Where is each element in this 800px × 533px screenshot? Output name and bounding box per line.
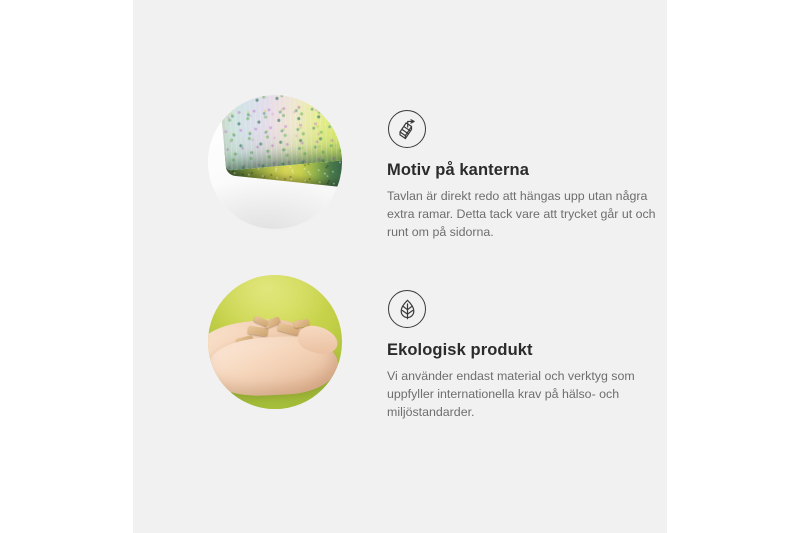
canvas-wrapped-edge-icon (388, 110, 426, 148)
feature-text-column: Ekologisk produkt Vi använder endast mat… (387, 290, 677, 422)
feature-description: Vi använder endast material och verktyg … (387, 367, 667, 422)
feature-text-column: Motiv på kanterna Tavlan är direkt redo … (387, 110, 677, 242)
feature-title: Motiv på kanterna (387, 161, 677, 181)
hands-holding-wood-chips-photo (208, 275, 342, 409)
product-feature-banner: Motiv på kanterna Tavlan är direkt redo … (0, 0, 800, 533)
canvas-print-corner-photo (208, 95, 342, 229)
feature-image-canvas-print (195, 85, 355, 245)
leaf-glyph (396, 298, 419, 321)
canvas-paint-streaks (219, 95, 342, 171)
leaf-icon (388, 290, 426, 328)
feature-block-ekologisk-produkt: Ekologisk produkt Vi använder endast mat… (133, 258, 667, 430)
feature-image-eco (195, 265, 355, 425)
feature-title: Ekologisk produkt (387, 341, 677, 361)
feature-description: Tavlan är direkt redo att hängas upp uta… (387, 187, 659, 242)
feature-block-motiv-pa-kanterna: Motiv på kanterna Tavlan är direkt redo … (133, 78, 667, 250)
canvas-wrapped-edge-glyph (396, 118, 419, 141)
canvas-print-object (219, 95, 342, 211)
